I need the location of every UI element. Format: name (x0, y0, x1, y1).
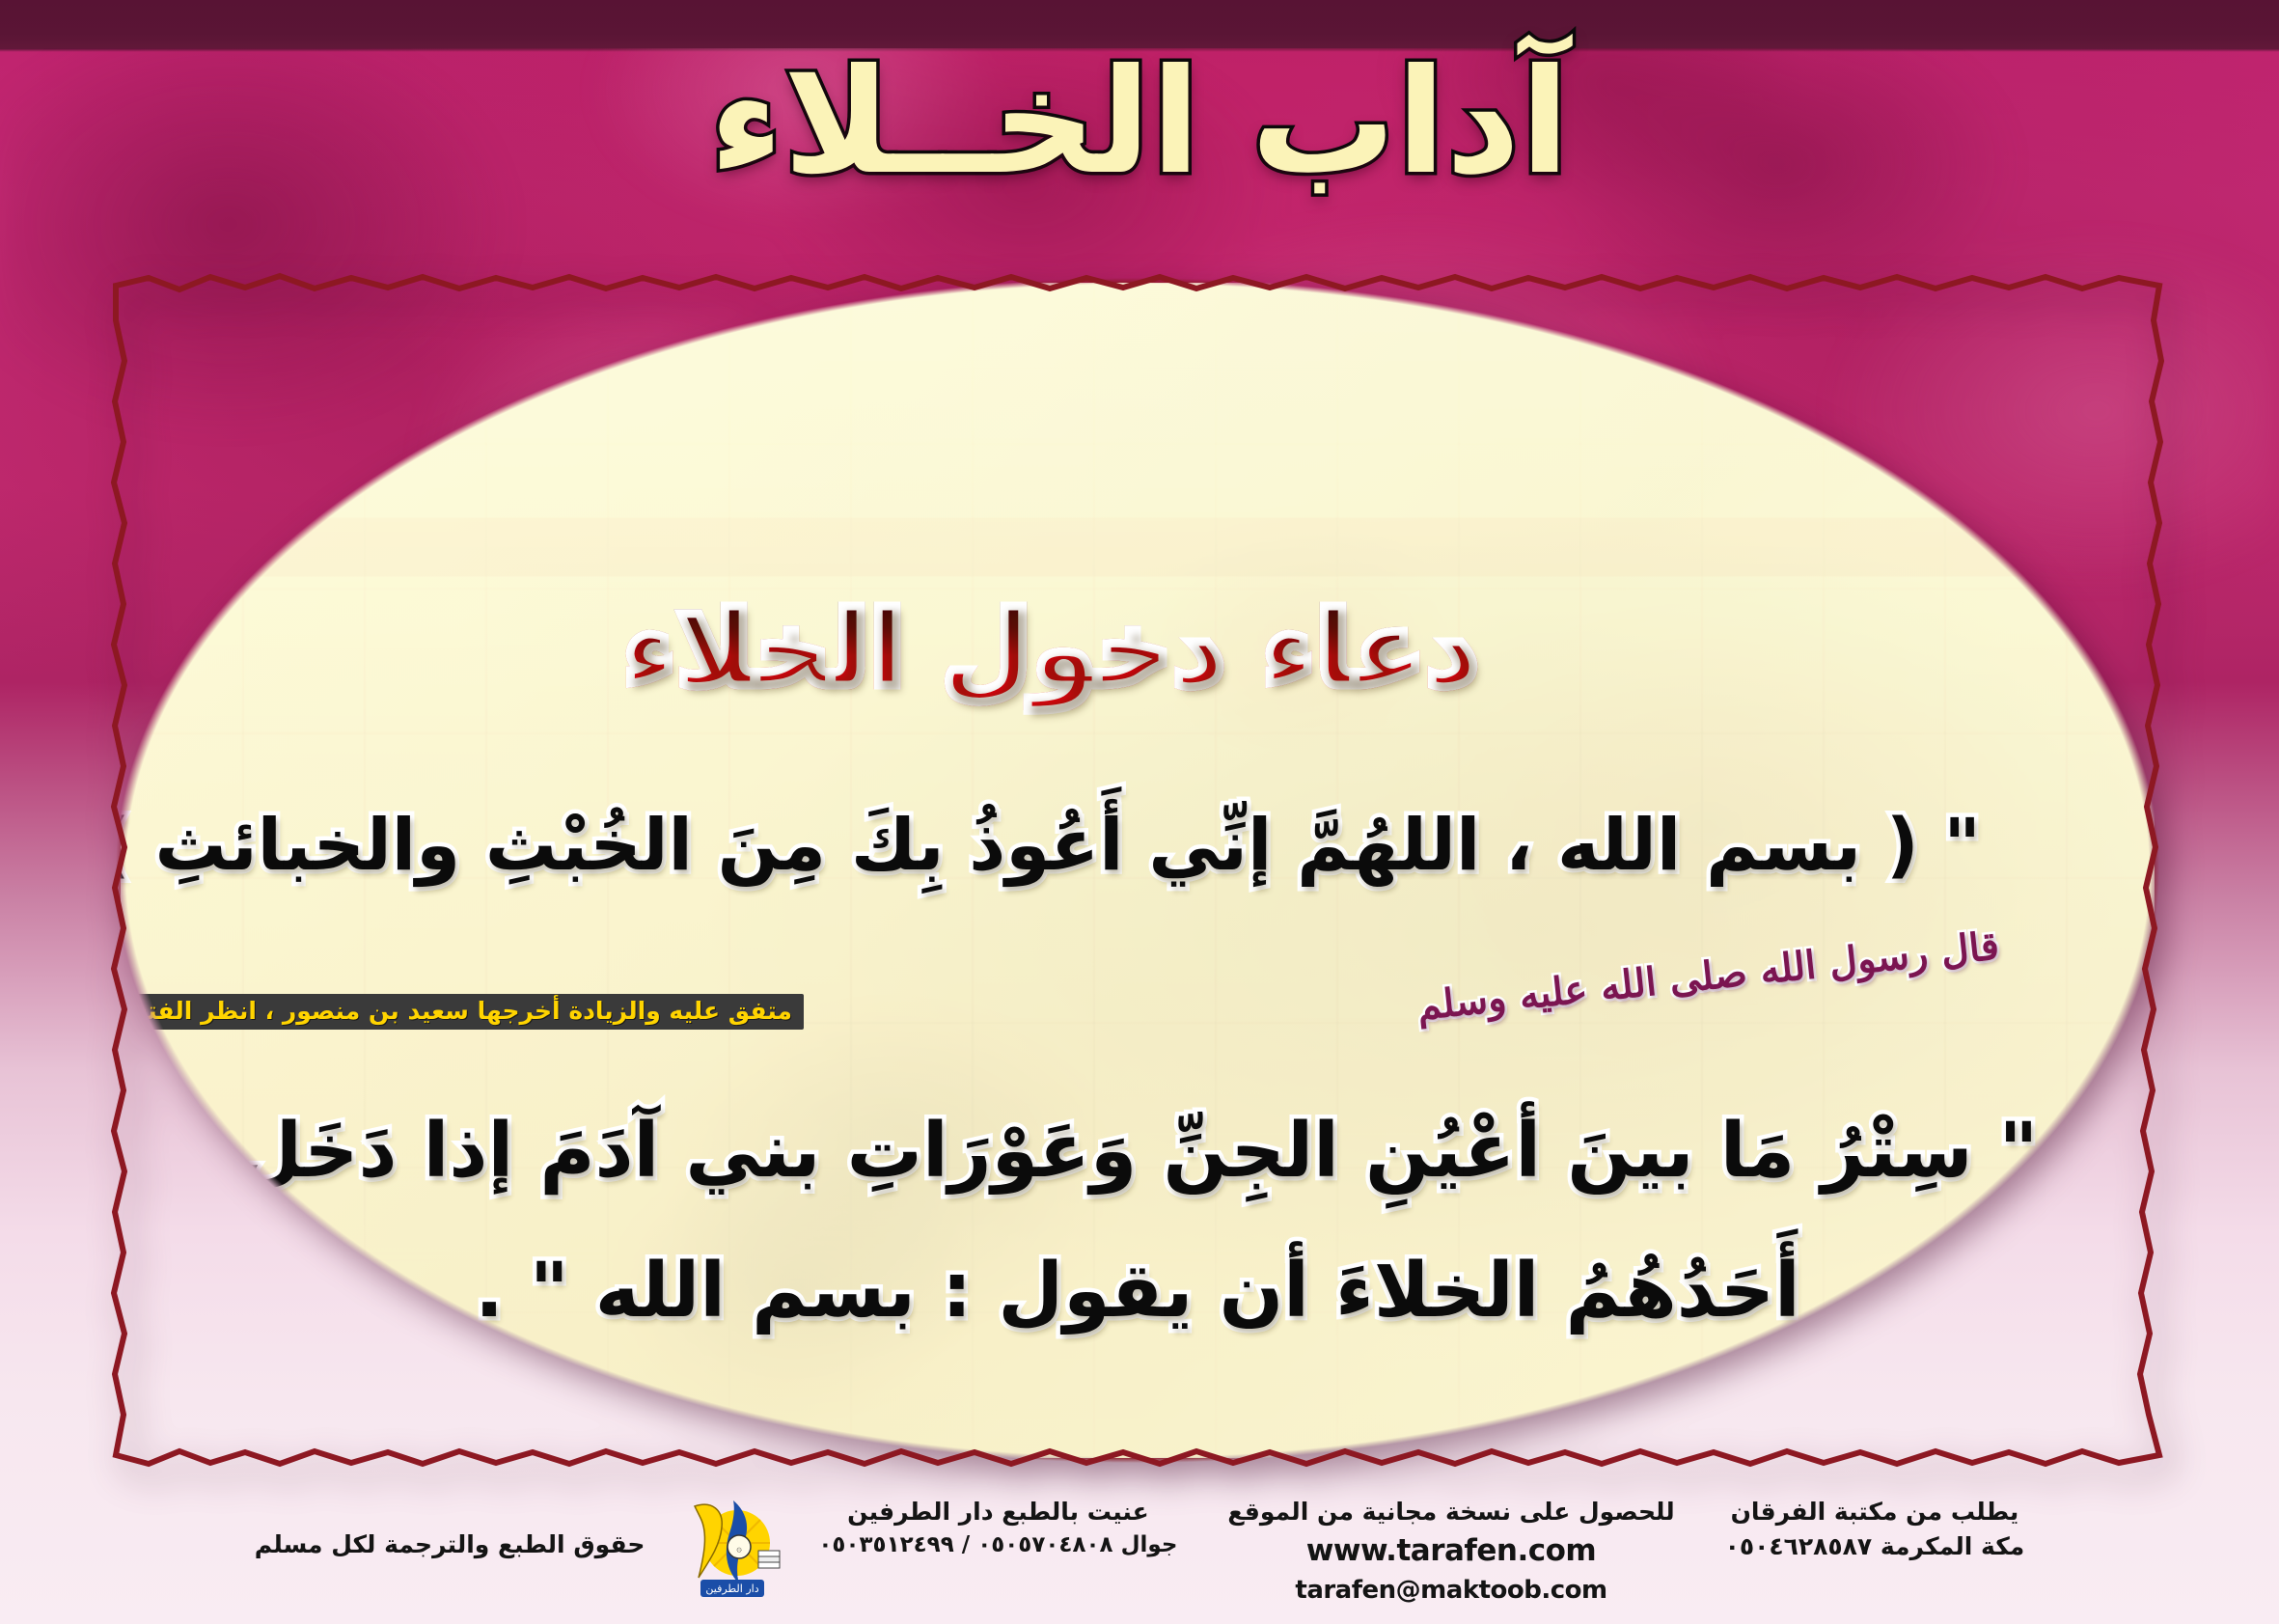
page-title: آداب الخــلاء (0, 33, 2279, 214)
footer-orders: يطلب من مكتبة الفرقان مكة المكرمة ٠٥٠٤٦٢… (1700, 1495, 2050, 1565)
footer-copyright: حقوق الطبع والترجمة لكل مسلم (230, 1495, 671, 1562)
footer-publisher-phone: جوال ٠٥٠٥٧٠٤٨٠٨ / ٠٥٠٣٥١٢٤٩٩ (818, 1529, 1177, 1561)
heading-entry-dua: دعاء دخول الخلاء (623, 590, 1479, 710)
calligraphy-seal-icon: قال رسول الله صلى الله عليه وسلم (1414, 922, 2001, 1029)
footer-website-url[interactable]: www.tarafen.com (1227, 1529, 1674, 1573)
paper-surface: دعاء دخول الخلاء " ( بسم الله ، اللهُمَّ… (116, 278, 2159, 1463)
entry-dua-text: " ( بسم الله ، اللهُمَّ إنِّي أَعُوذُ بِ… (294, 804, 1981, 887)
hadith-line-1: " سِتْرُ مَا بينَ أعْيُنِ الجِنِّ وَعَوْ… (236, 1108, 2039, 1195)
torn-paper-panel: دعاء دخول الخلاء " ( بسم الله ، اللهُمَّ… (116, 278, 2159, 1463)
entry-citation: متفق عليه والزيادة أخرجها سعيد بن منصور … (116, 994, 804, 1030)
footer-website: للحصول على نسخة مجانية من الموقع www.tar… (1202, 1495, 1699, 1610)
svg-text:۞: ۞ (736, 1544, 742, 1555)
svg-text:دار الطرفين: دار الطرفين (706, 1583, 759, 1595)
footer-orders-store: يطلب من مكتبة الفرقان (1725, 1495, 2025, 1529)
panel-content: دعاء دخول الخلاء " ( بسم الله ، اللهُمَّ… (121, 283, 2155, 1458)
publisher-logo: ۞ دار الطرفين (670, 1495, 793, 1603)
footer-publisher: عنيت بالطبع دار الطرفين جوال ٠٥٠٥٧٠٤٨٠٨ … (793, 1495, 1202, 1562)
footer-orders-city-phone: مكة المكرمة ٠٥٠٤٦٢٨٥٨٧ (1725, 1529, 2025, 1564)
footer: حقوق الطبع والترجمة لكل مسلم (0, 1479, 2279, 1624)
footer-website-email[interactable]: tarafen@maktoob.com (1227, 1573, 1674, 1610)
footer-website-note: للحصول على نسخة مجانية من الموقع (1227, 1495, 1674, 1529)
dar-altarafain-logo-icon: ۞ دار الطرفين (679, 1495, 783, 1603)
footer-copyright-line: حقوق الطبع والترجمة لكل مسلم (255, 1528, 645, 1562)
footer-publisher-name: عنيت بالطبع دار الطرفين (818, 1495, 1177, 1529)
poster-canvas: آداب الخــلاء دعاء دخول الخلاء " ( بسم ا… (0, 0, 2279, 1624)
hadith-line-2: أَحَدُهُمُ الخلاءَ أن يقول : بسم الله " … (236, 1248, 2039, 1335)
